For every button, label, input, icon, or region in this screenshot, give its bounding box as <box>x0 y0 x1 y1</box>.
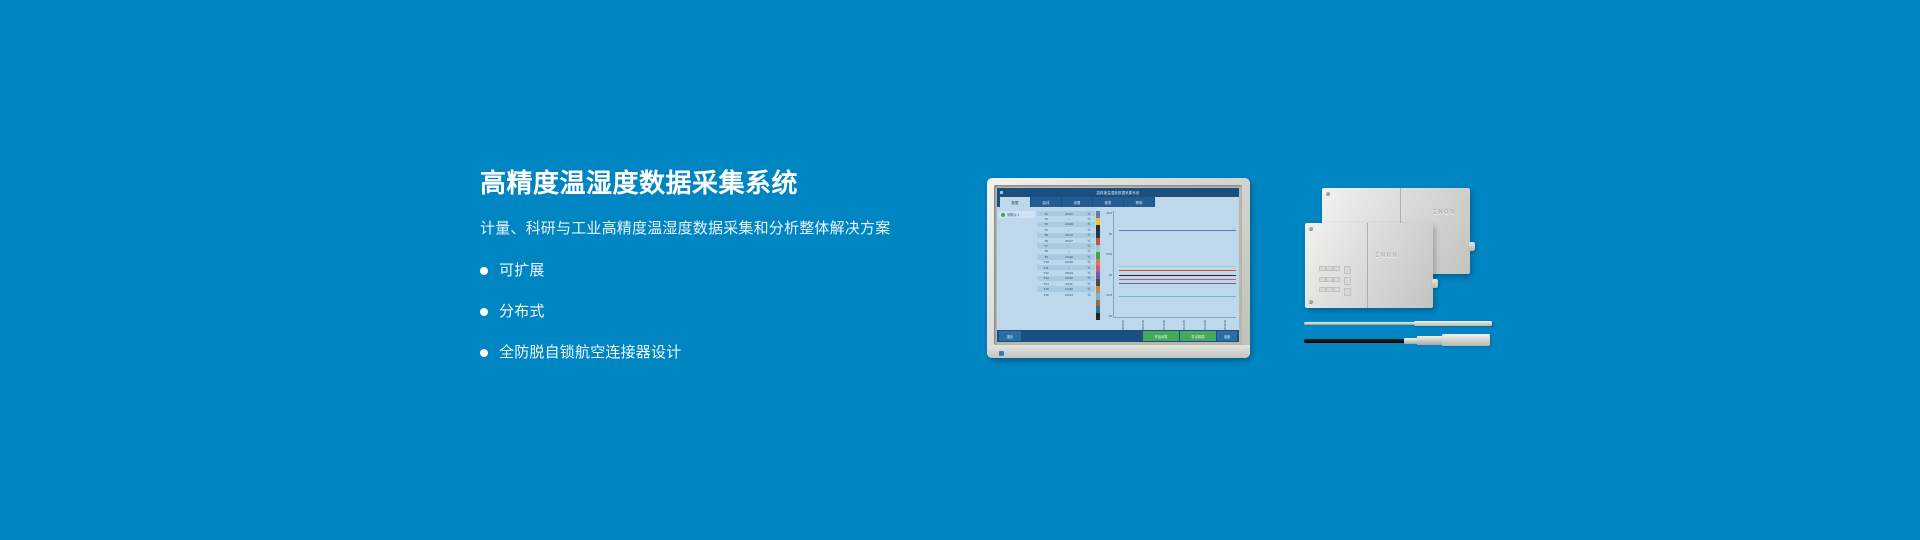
channel-unit: ℃ <box>1084 255 1094 259</box>
tabbar-filler <box>1155 197 1239 207</box>
y-tick-label: 25 <box>1103 232 1112 236</box>
channel-unit: ℃ <box>1084 266 1094 270</box>
software-tabbar: 数据 曲线 设置 报表 帮助 <box>997 197 1239 207</box>
channel-value: -- <box>1054 228 1084 232</box>
screw-icon <box>1326 192 1330 196</box>
monitor-bezel: 高精度温湿度数据采集系统 数据 曲线 设置 报表 帮助 <box>987 178 1250 358</box>
x-tick-label: 09:00:00 <box>1122 318 1125 330</box>
x-tick-label: 09:05:00 <box>1142 318 1145 330</box>
legend-swatch <box>1096 306 1100 313</box>
probe-shaft <box>1304 322 1420 325</box>
channel-unit: ℃ <box>1084 217 1094 221</box>
channel-name: T3 <box>1038 222 1054 226</box>
legend-swatch <box>1096 225 1100 232</box>
x-tick-label: 09:20:00 <box>1204 318 1207 330</box>
channel-value: 24.98 <box>1054 255 1084 259</box>
legend-swatch <box>1096 259 1100 266</box>
device-tree-panel: 采集仪-1 <box>997 207 1037 330</box>
chart-series-line <box>1119 266 1236 267</box>
channel-name: T2 <box>1038 217 1054 221</box>
connector-port-icon <box>1432 279 1438 288</box>
legend-swatch <box>1096 293 1100 300</box>
channel-name: T7 <box>1038 244 1054 248</box>
channel-value: -- <box>1054 249 1084 253</box>
page-subtitle: 计量、科研与工业高精度温湿度数据采集和分析整体解决方案 <box>480 218 900 240</box>
terminal-grid <box>1319 266 1338 296</box>
tree-node-label: 采集仪-1 <box>1007 212 1019 217</box>
channel-value: 25.04 <box>1054 271 1084 275</box>
channel-name: T5 <box>1038 233 1054 237</box>
list-item: 可扩展 <box>480 260 900 282</box>
channel-unit: ℃ <box>1084 276 1094 280</box>
screw-icon <box>1309 227 1313 231</box>
channel-value: 24.11 <box>1054 282 1084 286</box>
monitor-product-image: 高精度温湿度数据采集系统 数据 曲线 设置 报表 帮助 <box>987 178 1250 358</box>
panel-seam <box>1367 223 1368 308</box>
channel-name: T13 <box>1038 276 1054 280</box>
terminal-block-graphic <box>1319 266 1351 296</box>
list-item: 分布式 <box>480 301 900 323</box>
channel-value: 24.96 <box>1054 260 1084 264</box>
probe-handle <box>1414 321 1492 326</box>
start-capture-button[interactable]: 开始采集 <box>1143 331 1179 341</box>
banner-background: 高精度温湿度数据采集系统 计量、科研与工业高精度温湿度数据采集和分析整体解决方案… <box>0 0 1920 540</box>
y-tick-label: 25.5 <box>1103 211 1112 215</box>
monitor-inner-bezel: 高精度温湿度数据采集系统 数据 曲线 设置 报表 帮助 <box>994 185 1242 345</box>
legend-swatch <box>1096 211 1100 218</box>
channel-name: T12 <box>1038 271 1054 275</box>
tree-node-device[interactable]: 采集仪-1 <box>999 211 1035 218</box>
y-tick-label: 24.5 <box>1103 252 1112 256</box>
probe-body <box>1442 334 1490 346</box>
device-brand-label: INON <box>1433 208 1456 216</box>
page-title: 高精度温湿度数据采集系统 <box>480 166 900 200</box>
banner-copy: 高精度温湿度数据采集系统 计量、科研与工业高精度温湿度数据采集和分析整体解决方案… <box>480 166 900 383</box>
chart-plot-area <box>1113 211 1236 318</box>
channel-unit: ℃ <box>1084 228 1094 232</box>
trend-chart: 25.52524.52423.523 09:00:0009:05:0009:10… <box>1103 211 1236 330</box>
footer-spacer <box>1022 331 1142 341</box>
x-tick-label: 09:15:00 <box>1183 318 1186 330</box>
channel-value: -- <box>1054 244 1084 248</box>
legend-swatch <box>1096 238 1100 245</box>
chart-series-line <box>1119 270 1236 271</box>
channel-color-legend <box>1096 211 1100 320</box>
feature-label: 全防脱自锁航空连接器设计 <box>499 342 681 364</box>
chart-series-line <box>1119 296 1236 297</box>
legend-swatch <box>1096 272 1100 279</box>
chart-series-line <box>1119 275 1236 276</box>
channel-value: -- <box>1054 217 1084 221</box>
chart-series-line <box>1119 279 1236 280</box>
software-body: 采集仪-1 T125.01℃T2--℃T324.99℃T4--℃T525.12℃… <box>997 207 1239 330</box>
legend-swatch <box>1096 300 1100 307</box>
monitor-base-strip <box>987 345 1250 358</box>
channel-unit: ℃ <box>1084 260 1094 264</box>
feature-label: 分布式 <box>499 301 545 323</box>
x-tick-label: 09:10:00 <box>1163 318 1166 330</box>
bullet-dot-icon <box>480 349 488 357</box>
channel-value: 25.07 <box>1054 239 1084 243</box>
software-titlebar: 高精度温湿度数据采集系统 <box>997 188 1239 197</box>
channel-name: T14 <box>1038 282 1054 286</box>
channel-name: T9 <box>1038 255 1054 259</box>
channel-name: T16 <box>1038 293 1054 297</box>
connector-port-icon <box>1469 242 1475 251</box>
channel-name: T6 <box>1038 239 1054 243</box>
channel-name: T10 <box>1038 260 1054 264</box>
channel-unit: ℃ <box>1084 282 1094 286</box>
tab-curve[interactable]: 曲线 <box>1031 197 1061 207</box>
legend-swatch <box>1096 266 1100 273</box>
tab-data[interactable]: 数据 <box>1000 197 1030 207</box>
tab-help[interactable]: 帮助 <box>1124 197 1154 207</box>
chart-series-line <box>1119 230 1236 231</box>
channel-name: T4 <box>1038 228 1054 232</box>
legend-swatch <box>1096 218 1100 225</box>
software-footer: 退出 开始采集 导出数据 设置 <box>997 330 1239 342</box>
screw-icon <box>1309 300 1313 304</box>
temperature-probe-cable <box>1304 334 1490 348</box>
channel-unit: ℃ <box>1084 287 1094 291</box>
terminal-column <box>1344 266 1351 296</box>
y-tick-label: 23 <box>1103 314 1112 318</box>
software-window-title: 高精度温湿度数据采集系统 <box>997 190 1239 195</box>
channel-value: 24.94 <box>1054 293 1084 297</box>
brand-logo-icon <box>999 351 1004 356</box>
status-online-icon <box>1001 213 1005 217</box>
settings-button[interactable]: 设置 <box>1217 331 1237 341</box>
channel-unit: ℃ <box>1084 222 1094 226</box>
channel-name: T1 <box>1038 212 1054 216</box>
channel-name: T8 <box>1038 249 1054 253</box>
channel-unit: ℃ <box>1084 293 1094 297</box>
table-row[interactable]: T1624.94℃ <box>1037 292 1095 297</box>
channel-unit: ℃ <box>1084 233 1094 237</box>
chart-y-axis: 25.52524.52423.523 <box>1103 211 1112 318</box>
feature-list: 可扩展 分布式 全防脱自锁航空连接器设计 <box>480 260 900 364</box>
daq-module-front: INON <box>1305 223 1433 308</box>
channel-value: 25.12 <box>1054 233 1084 237</box>
x-tick-label: 09:25:00 <box>1224 318 1227 330</box>
probe-connector <box>1417 336 1443 345</box>
legend-swatch <box>1096 231 1100 238</box>
list-item: 全防脱自锁航空连接器设计 <box>480 342 900 364</box>
channel-value: 24.99 <box>1054 222 1084 226</box>
export-data-button[interactable]: 导出数据 <box>1180 331 1216 341</box>
chart-series-line <box>1119 283 1236 284</box>
channel-unit: ℃ <box>1084 239 1094 243</box>
channel-value: 25.01 <box>1054 212 1084 216</box>
y-tick-label: 24 <box>1103 273 1112 277</box>
y-tick-label: 23.5 <box>1103 293 1112 297</box>
feature-label: 可扩展 <box>499 260 545 282</box>
channel-unit: ℃ <box>1084 244 1094 248</box>
legend-swatch <box>1096 279 1100 286</box>
channel-name: T15 <box>1038 287 1054 291</box>
device-product-images: INON INON <box>1300 178 1500 358</box>
temperature-probe-steel <box>1304 320 1490 328</box>
legend-swatch <box>1096 252 1100 259</box>
tab-report[interactable]: 报表 <box>1093 197 1123 207</box>
exit-button[interactable]: 退出 <box>999 331 1021 341</box>
legend-swatch <box>1096 313 1100 320</box>
tab-settings[interactable]: 设置 <box>1062 197 1092 207</box>
channel-unit: ℃ <box>1084 249 1094 253</box>
legend-swatch <box>1096 245 1100 252</box>
channel-unit: ℃ <box>1084 212 1094 216</box>
channel-value: -- <box>1054 266 1084 270</box>
bullet-dot-icon <box>480 308 488 316</box>
chart-x-axis: 09:00:0009:05:0009:10:0009:15:0009:20:00… <box>1113 318 1236 330</box>
channel-name: T11 <box>1038 266 1054 270</box>
legend-swatch <box>1096 286 1100 293</box>
channel-value: 24.90 <box>1054 287 1084 291</box>
device-brand-label: INON <box>1375 251 1398 259</box>
channel-unit: ℃ <box>1084 271 1094 275</box>
software-screen: 高精度温湿度数据采集系统 数据 曲线 设置 报表 帮助 <box>997 188 1239 342</box>
probe-strain-relief <box>1404 338 1418 344</box>
channel-value: 24.28 <box>1054 276 1084 280</box>
channel-table: T125.01℃T2--℃T324.99℃T4--℃T525.12℃T625.0… <box>1037 207 1095 330</box>
bullet-dot-icon <box>480 267 488 275</box>
probe-cable <box>1304 339 1412 343</box>
